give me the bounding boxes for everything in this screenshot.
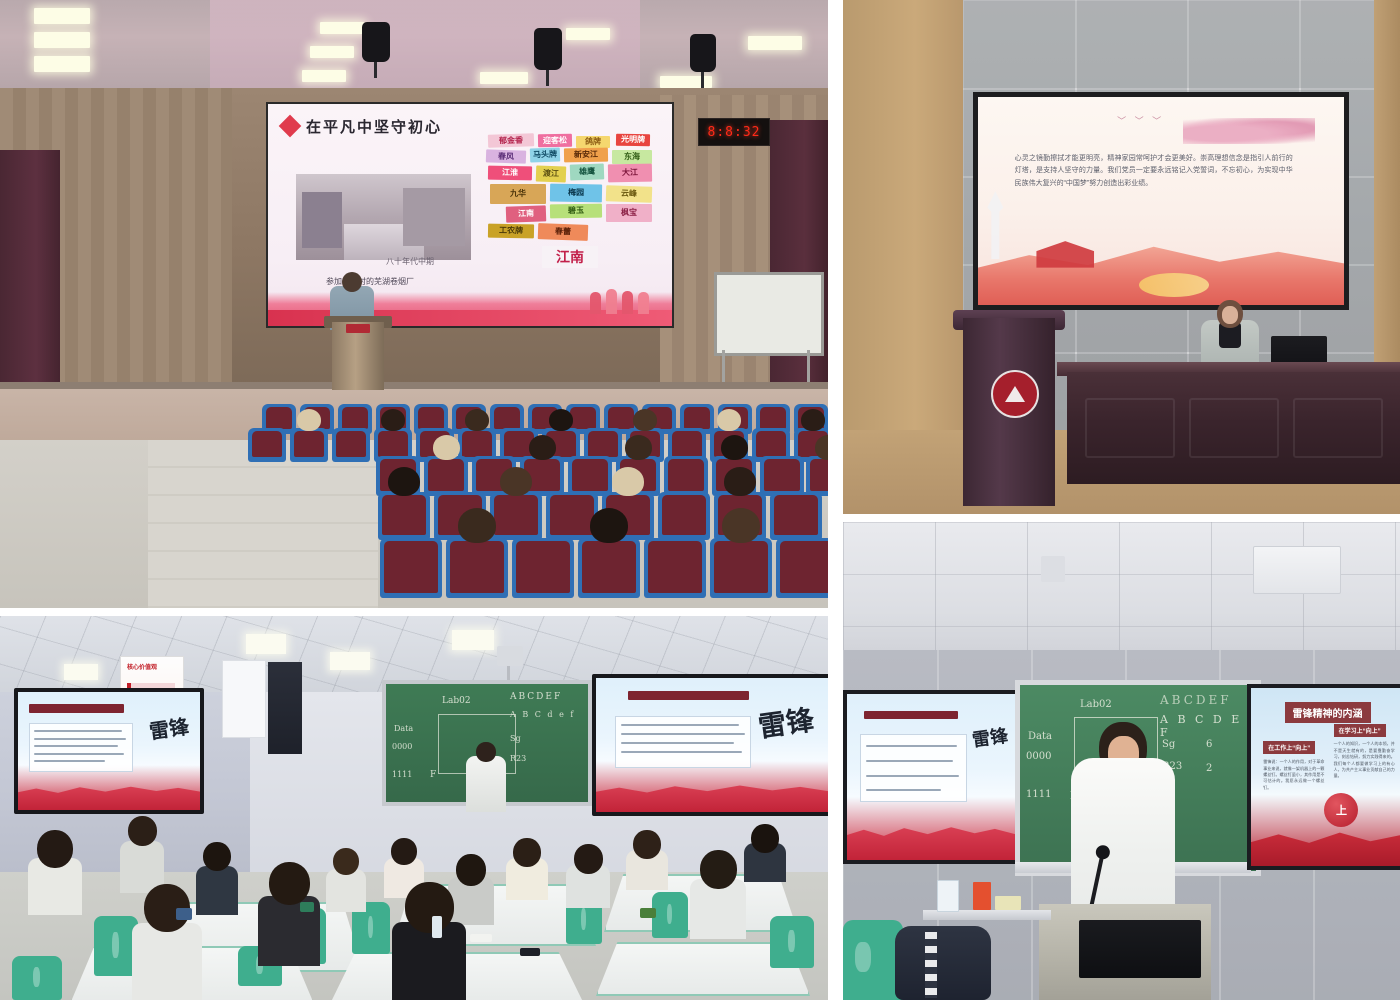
seat-cushion	[714, 541, 768, 593]
water-bottle	[973, 882, 991, 910]
seat-cushion	[764, 459, 800, 491]
wall-tile	[1187, 0, 1301, 90]
text-line	[866, 789, 941, 791]
podium	[963, 318, 1055, 506]
seat-cushion	[608, 407, 634, 429]
wall-display-left: 雷锋	[843, 690, 1019, 864]
desk-item	[432, 916, 442, 938]
brand-label: 春蕾	[538, 223, 589, 241]
presenter-body	[466, 756, 506, 812]
slide-center-glyph: 上	[1324, 793, 1358, 827]
brand-label: 马头牌	[530, 147, 560, 162]
seat-cushion	[494, 495, 538, 535]
slide-photo-caption-right: 八十年代中期	[386, 256, 434, 267]
stage-edge	[0, 382, 828, 389]
chalk-note-lab: Lab02	[1080, 699, 1112, 710]
wall-tile	[963, 0, 1077, 90]
presenter-face	[1222, 306, 1238, 324]
student-head	[405, 882, 454, 933]
seat-cushion	[428, 459, 464, 491]
ceiling-light	[34, 56, 90, 72]
chalk-note-alphabet: ABCDEF	[510, 692, 562, 702]
figure	[638, 292, 649, 314]
stage-spotlight-icon	[690, 34, 716, 72]
projection-screen: ﹀ ﹀ ﹀ 心灵之镜勤擦拭才能更明亮，精神家园常呵护才会更美好。崇高理想信念是指…	[973, 92, 1349, 310]
slide-heading-bar	[29, 704, 124, 713]
city-silhouette	[847, 817, 1015, 860]
wall-display-right: 雷锋	[592, 674, 828, 816]
wall-display-left: 雷锋	[14, 688, 204, 814]
student-head	[269, 862, 310, 905]
university-emblem-icon	[991, 370, 1039, 418]
lectern-front-panel	[1079, 920, 1201, 978]
seat-cushion	[336, 431, 366, 457]
panel-lecture-hall-speaker: ﹀ ﹀ ﹀ 心灵之镜勤擦拭才能更明亮，精神家园常呵护才会更美好。崇高理想信念是指…	[843, 0, 1400, 514]
seat-cushion	[550, 495, 594, 535]
panel-lecture-classroom-leifeng: 雷锋 Lab02 Data 0000 1111 F ABCDEF A B C D…	[843, 522, 1400, 1000]
brand-label: 工农牌	[488, 224, 534, 239]
seat-cushion	[516, 541, 570, 593]
brand-label: 云峰	[606, 185, 653, 203]
chalk-note-data: Data	[394, 724, 413, 733]
student-head	[128, 816, 157, 846]
audience-head	[633, 409, 657, 431]
slide-content: 雷锋	[847, 694, 1015, 860]
photo-road	[344, 224, 424, 260]
brand-label: 渡江	[536, 165, 567, 182]
archive-photo	[296, 174, 471, 260]
center-aisle	[148, 440, 378, 608]
audience-head	[433, 435, 460, 460]
slide-text-card	[860, 734, 966, 802]
ceiling-light	[302, 70, 346, 82]
birds-icon: ﹀ ﹀ ﹀	[1117, 114, 1164, 127]
brand-label: 九华	[490, 184, 546, 204]
document-camera	[497, 646, 523, 666]
stage-spotlight-icon	[362, 22, 390, 62]
brand-label: 春风	[486, 149, 526, 163]
ceiling-light	[748, 36, 802, 50]
ceiling-tint	[210, 0, 640, 92]
backpack	[895, 926, 991, 1000]
text-line	[34, 730, 122, 732]
slide-content: ﹀ ﹀ ﹀ 心灵之镜勤擦拭才能更明亮，精神家园常呵护才会更美好。崇高理想信念是指…	[978, 97, 1344, 305]
audience-head	[724, 467, 756, 496]
chalk-note-alphabet: A B C D E F	[1160, 713, 1256, 739]
brand-label: 江南	[506, 205, 547, 222]
seat-cushion	[462, 431, 492, 457]
brand-label: 大江	[608, 164, 652, 183]
chalk-note-data: Data	[1028, 731, 1052, 742]
whiteboard	[714, 272, 824, 356]
chalk-note-fraction: 6	[1206, 739, 1212, 750]
audience-head	[381, 409, 405, 431]
slide-content: 雷锋	[596, 678, 828, 812]
chalk-note-alphabet-outline: ABCDEF	[1160, 693, 1232, 707]
brand-label: 鸽牌	[576, 136, 610, 148]
panel-auditorium-lecture: 8:8:32 在平凡中坚守初心 八十年代中期 参加工作时的芜湖卷烟厂 郁金香迎客…	[0, 0, 828, 608]
wall-cabinet	[268, 662, 302, 754]
security-camera-icon	[1041, 556, 1065, 582]
seat-cushion	[582, 541, 636, 593]
ceiling-light	[64, 664, 98, 680]
seat-cushion	[570, 407, 596, 429]
student-head	[333, 848, 359, 875]
seat-cushion	[668, 459, 704, 491]
led-clock: 8:8:32	[698, 118, 770, 146]
seat-cushion	[760, 407, 786, 429]
paper-tray	[995, 896, 1021, 910]
chalk-note-fraction2: 2	[1206, 763, 1212, 774]
podium-plaque	[346, 324, 370, 333]
seat-cushion	[588, 431, 618, 457]
student-head	[37, 830, 73, 868]
slide-section-body-study: 一个人的知识，一个人的本领，并不是天生就有的，是要靠勤奋学习，刻苦钻研，努力实践…	[1334, 741, 1395, 779]
seat-cushion	[418, 407, 444, 429]
slide-content: 雷锋精神的内涵 在工作上“向上” 雷锋说：一个人的作用，对于革命事业来说，就像一…	[1251, 688, 1400, 866]
slide-text-card	[29, 723, 133, 772]
audience-head	[297, 409, 321, 431]
slide-body-text: 心灵之镜勤擦拭才能更明亮，精神家园常呵护才会更美好。崇高理想信念是指引人前行的灯…	[1015, 153, 1293, 190]
ceiling-light	[452, 630, 494, 650]
seat-cushion	[648, 541, 702, 593]
audience-head	[625, 435, 652, 460]
text-line	[866, 760, 953, 762]
seat-cushion	[780, 541, 828, 593]
seat-cushion	[450, 541, 504, 593]
seat-cushion	[494, 407, 520, 429]
green-chair	[843, 920, 903, 1000]
chalk-note-zeros: 0000	[392, 742, 412, 751]
slide-content: 在平凡中坚守初心 八十年代中期 参加工作时的芜湖卷烟厂 郁金香迎客松鸽牌光明牌春…	[268, 104, 672, 326]
slide-content: 雷锋	[18, 692, 200, 810]
wave-graphic	[1251, 823, 1400, 866]
desk-item	[300, 902, 314, 912]
audience-head	[465, 409, 489, 431]
chalk-note-lab: Lab02	[442, 696, 471, 706]
ceiling-vent	[1253, 546, 1341, 594]
seat-cushion	[266, 407, 292, 429]
student-head	[203, 842, 231, 871]
ceiling-light	[34, 32, 90, 48]
worker-figures-icon	[590, 288, 662, 314]
speaker-desk	[1067, 372, 1400, 484]
brand-label-collage: 郁金香迎客松鸽牌光明牌春风马头牌新安江东海江淮渡江雄鹰大江九华梅园云峰江南碧玉枫…	[486, 134, 654, 280]
text-line	[621, 751, 742, 753]
student-head	[513, 838, 541, 867]
seat-cushion	[342, 407, 368, 429]
brand-label-feature: 江南	[542, 246, 598, 268]
student-head	[751, 824, 779, 853]
chalk-note-alphabet-lower: A B C d e f	[510, 710, 575, 719]
text-line	[34, 738, 126, 740]
stage-curtain-left	[0, 150, 60, 412]
ceiling-light	[660, 76, 712, 88]
ceiling-light	[310, 46, 354, 58]
desk-item	[176, 908, 192, 920]
brand-label: 枫宝	[606, 204, 652, 222]
tower-icon	[985, 191, 1005, 259]
brand-label: 梅园	[550, 184, 602, 203]
text-line	[621, 724, 739, 726]
figure	[590, 292, 601, 314]
wall-tile	[1075, 0, 1189, 90]
text-line	[866, 745, 958, 747]
brand-label: 碧玉	[550, 204, 602, 219]
classroom-chair	[12, 956, 62, 1000]
photo-collage: 8:8:32 在平凡中坚守初心 八十年代中期 参加工作时的芜湖卷烟厂 郁金香迎客…	[0, 0, 1400, 1000]
brand-label: 雄鹰	[570, 163, 605, 180]
classroom-chair	[652, 892, 688, 938]
tissue-box	[937, 880, 959, 912]
student-head	[456, 854, 486, 886]
speaker-head	[342, 272, 362, 292]
chalk-note-zeros: 0000	[1026, 751, 1051, 762]
text-line	[621, 733, 745, 735]
leifeng-calligraphy: 雷锋	[971, 721, 1010, 752]
student-head	[700, 850, 737, 889]
slide-section-heading-study: 在学习上“向上”	[1334, 724, 1386, 737]
slide-section-heading-work: 在工作上“向上”	[1263, 741, 1315, 754]
text-line	[621, 742, 734, 744]
audience-head	[801, 409, 825, 431]
ceiling-light	[566, 28, 610, 40]
brand-label: 郁金香	[488, 133, 534, 148]
leifeng-calligraphy: 雷锋	[147, 711, 191, 745]
text-line	[34, 753, 124, 755]
student-body	[196, 866, 238, 915]
ceiling-light	[246, 634, 286, 654]
ceiling-light	[480, 72, 528, 84]
student-body	[132, 923, 202, 1000]
chalk-note-ones: 1111	[1026, 789, 1051, 800]
desk-panel	[1189, 398, 1279, 458]
brand-label: 新安江	[564, 148, 608, 163]
presenter-head	[476, 742, 496, 762]
seat-cushion	[252, 431, 282, 457]
figure	[622, 291, 633, 314]
seat-cushion	[384, 541, 438, 593]
poster-title: 核心价值观	[127, 662, 157, 671]
leifeng-calligraphy: 雷锋	[756, 698, 817, 745]
audience-head	[717, 409, 741, 431]
student-body	[326, 869, 366, 912]
brand-label: 江淮	[488, 166, 532, 181]
figure	[606, 289, 617, 314]
seat-cushion	[378, 431, 408, 457]
slide-section-body-work: 雷锋说：一个人的作用，对于革命事业来说，就像一架机器上的一颗螺丝钉。螺丝钉虽小，…	[1263, 759, 1324, 791]
seat-cushion	[382, 495, 426, 535]
audience-head	[458, 508, 496, 543]
slide-text-card	[615, 716, 752, 769]
tiananmen-icon	[1029, 238, 1101, 268]
seat-cushion	[294, 431, 324, 457]
chalk-note-f: F	[430, 770, 436, 780]
classroom-chair	[770, 916, 814, 968]
ceiling-light	[320, 22, 364, 34]
audience-head	[722, 508, 760, 543]
desk-item	[640, 908, 656, 918]
audience-head	[590, 508, 628, 543]
audience-head	[529, 435, 556, 460]
chalk-note-ones: 1111	[392, 770, 412, 779]
student-head	[633, 830, 661, 859]
slide-title: 雷锋精神的内涵	[1285, 702, 1371, 723]
projection-screen: 在平凡中坚守初心 八十年代中期 参加工作时的芜湖卷烟厂 郁金香迎客松鸽牌光明牌春…	[266, 102, 674, 328]
city-silhouette	[596, 777, 828, 812]
notice-board	[222, 660, 266, 738]
seat-cushion	[756, 431, 786, 457]
stage-spotlight-icon	[534, 28, 562, 70]
slide-heading-bar	[628, 691, 749, 700]
student-head	[391, 838, 417, 865]
ceiling-light	[34, 8, 90, 24]
audience-head	[549, 409, 573, 431]
audience-head	[612, 467, 644, 496]
slide-heading-bar	[864, 711, 958, 719]
student-head	[574, 844, 603, 874]
audience-head	[388, 467, 420, 496]
ribbon-graphic	[1183, 118, 1315, 144]
ceiling-light	[330, 652, 370, 670]
brand-label: 东海	[612, 150, 652, 164]
seat-cushion	[662, 495, 706, 535]
panel-seminar-classroom: 核心价值观 雷锋 Lab02 Da	[0, 616, 828, 1000]
audience-head	[500, 467, 532, 496]
wall-display-right: 雷锋精神的内涵 在工作上“向上” 雷锋说：一个人的作用，对于革命事业来说，就像一…	[1247, 684, 1400, 870]
wood-wall-left	[843, 0, 963, 430]
seat-cushion	[774, 495, 818, 535]
desk-item	[470, 934, 492, 942]
diamond-bullet-icon	[279, 115, 302, 138]
desk-panel	[1293, 398, 1383, 458]
desk-item	[520, 948, 540, 956]
brand-label: 光明牌	[616, 134, 650, 147]
desk-panel	[1085, 398, 1175, 458]
seat-cushion	[572, 459, 608, 491]
led-clock-value: 8:8:32	[708, 125, 761, 140]
brand-label: 迎客松	[538, 134, 572, 148]
sun-graphic	[1139, 273, 1209, 297]
text-line	[866, 775, 960, 777]
slide-title: 在平凡中坚守初心	[306, 116, 442, 137]
seat-cushion	[810, 459, 828, 491]
seat-cushion	[672, 431, 702, 457]
city-silhouette	[18, 779, 200, 810]
student-body	[392, 922, 466, 1000]
seat-cushion	[684, 407, 710, 429]
audience-head	[721, 435, 748, 460]
text-line	[34, 745, 118, 747]
chalk-note-sg: Sg	[1162, 739, 1175, 750]
text-line	[34, 760, 105, 762]
